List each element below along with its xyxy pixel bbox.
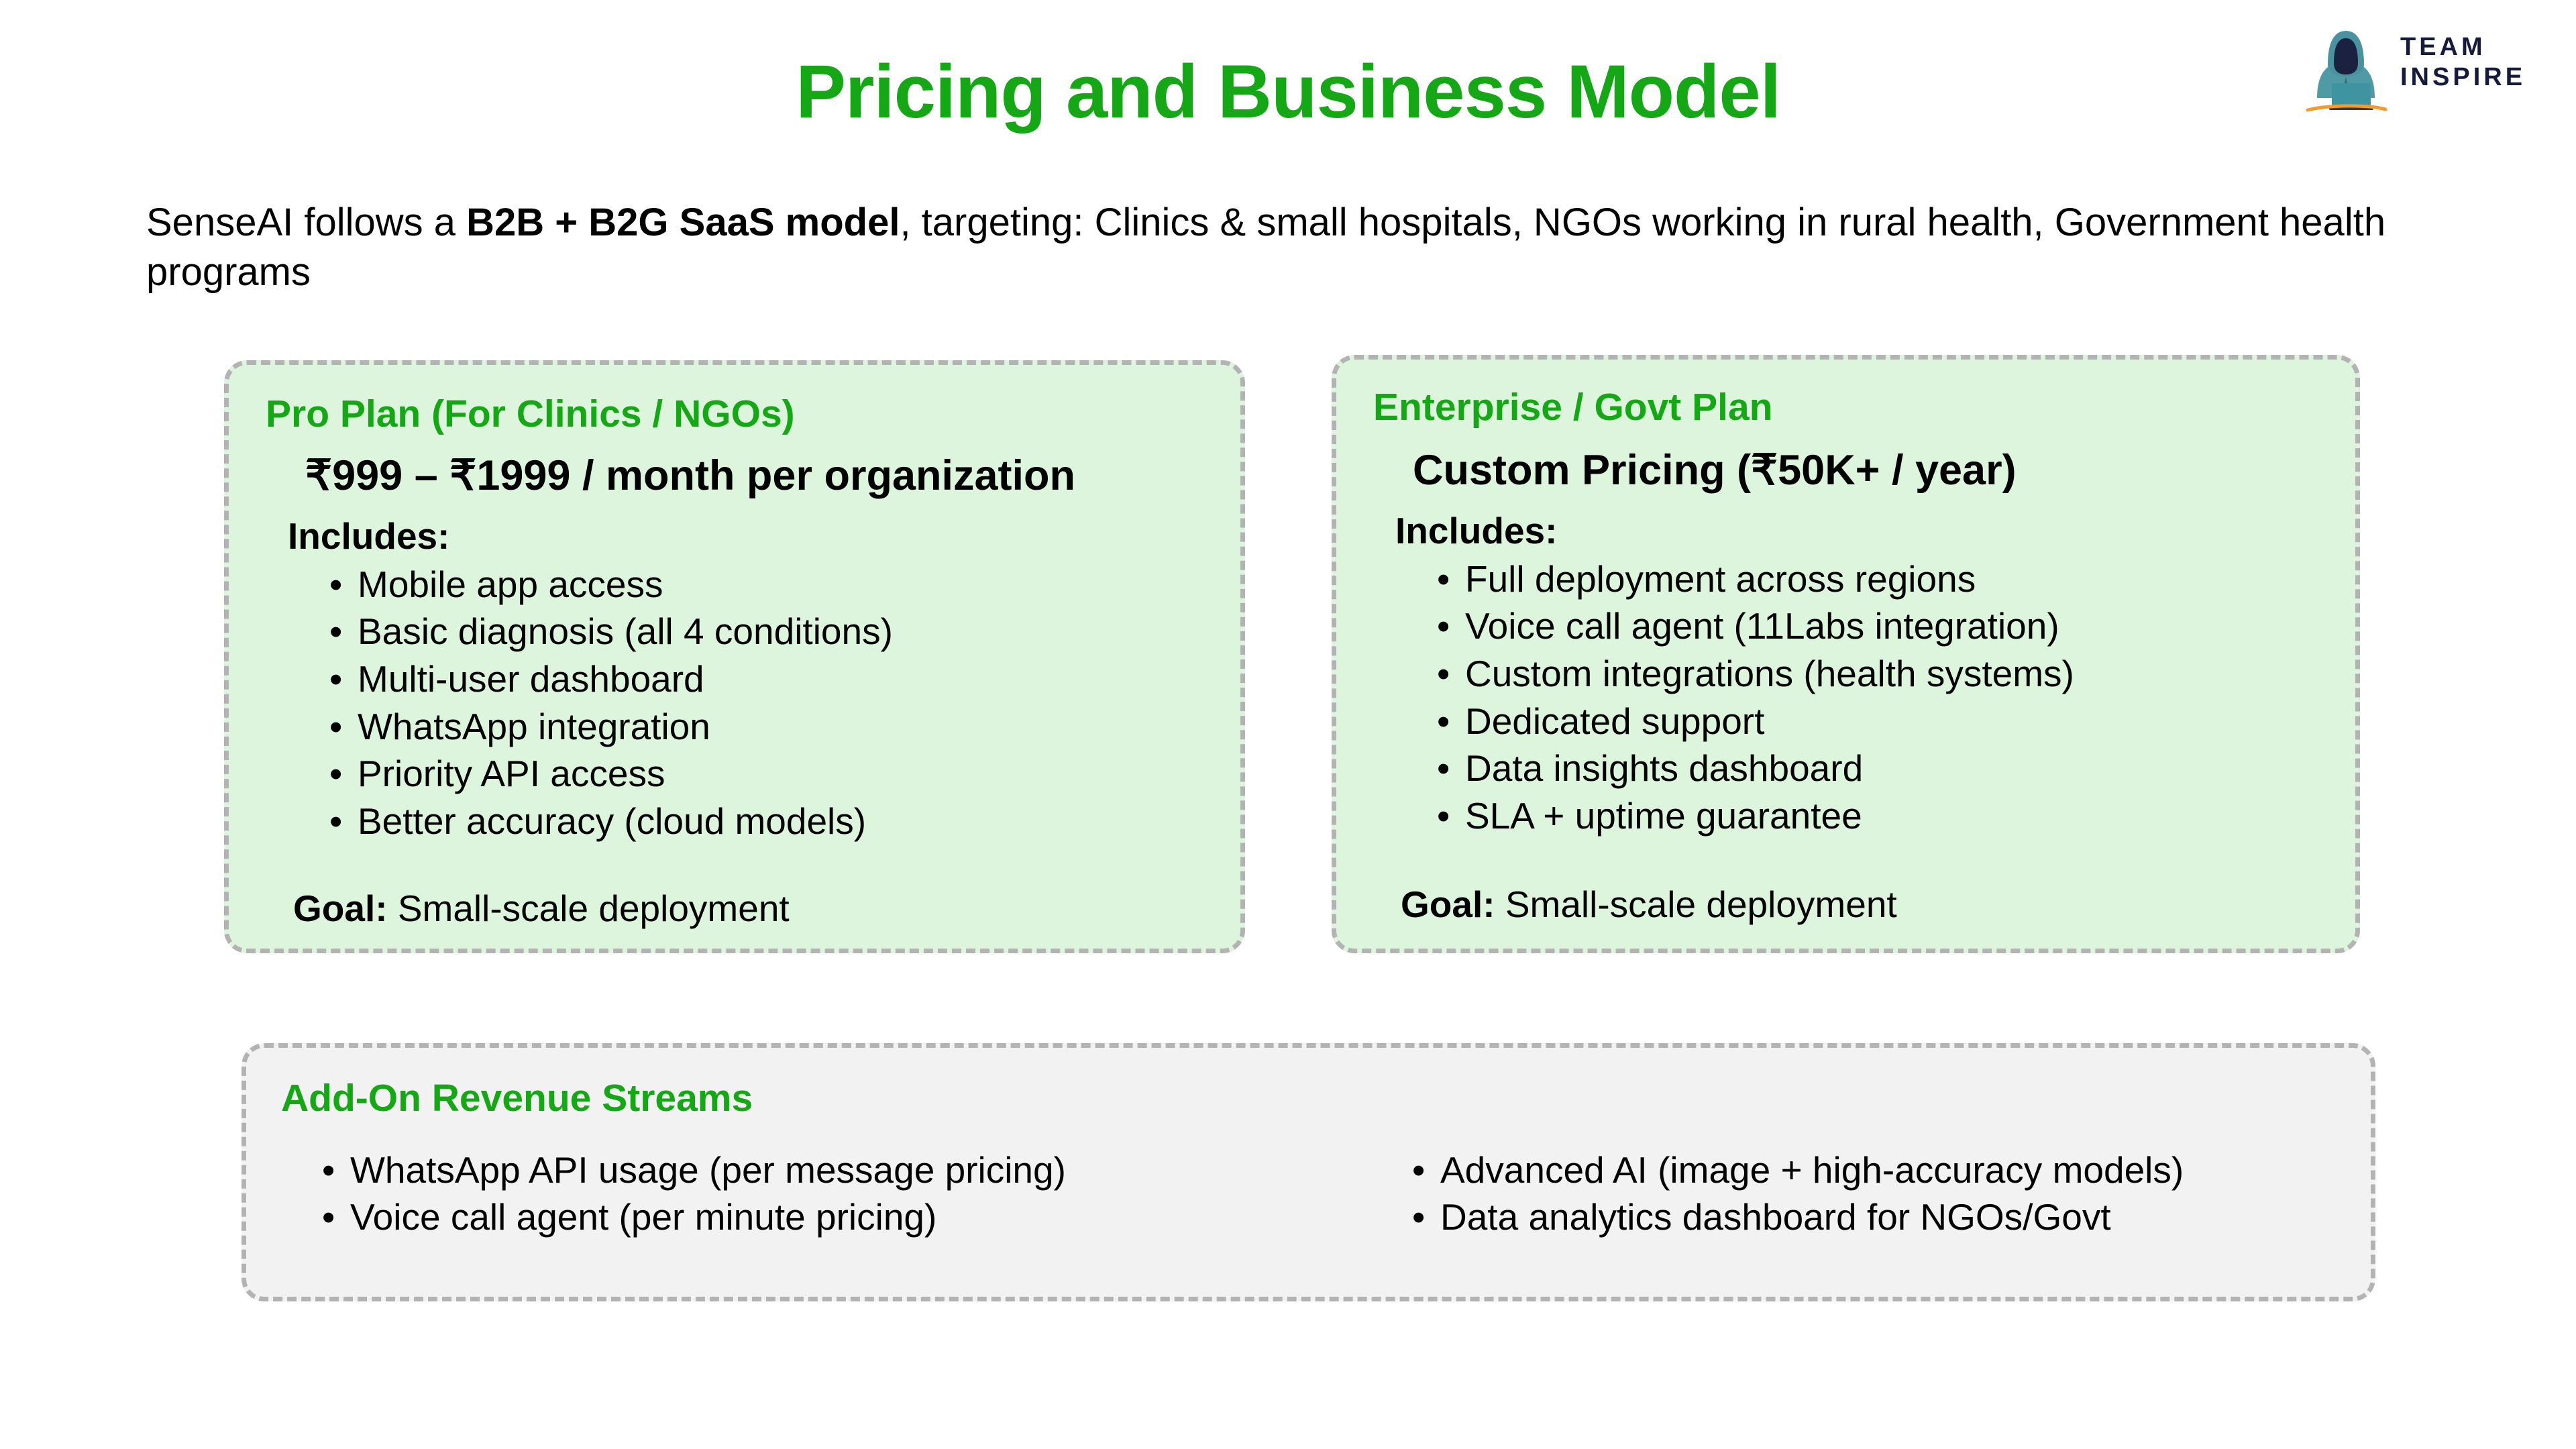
list-item: Data analytics dashboard for NGOs/Govt bbox=[1440, 1193, 2371, 1241]
list-item: WhatsApp integration bbox=[358, 703, 1240, 751]
subtitle-lead: SenseAI follows a bbox=[146, 201, 466, 244]
list-item: Multi-user dashboard bbox=[358, 655, 1240, 703]
addons-columns: WhatsApp API usage (per message pricing)… bbox=[246, 1120, 2371, 1241]
list-item: Advanced AI (image + high-accuracy model… bbox=[1440, 1146, 2371, 1194]
list-item: Voice call agent (per minute pricing) bbox=[350, 1193, 1353, 1241]
addons-column-right: Advanced AI (image + high-accuracy model… bbox=[1353, 1146, 2371, 1241]
list-item: SLA + uptime guarantee bbox=[1465, 792, 2355, 840]
plan-card-enterprise-feature-list: Full deployment across regions Voice cal… bbox=[1336, 555, 2355, 840]
plan-card-enterprise-heading: Enterprise / Govt Plan bbox=[1336, 360, 2355, 429]
list-item: Custom integrations (health systems) bbox=[1465, 650, 2355, 698]
plan-card-pro-heading: Pro Plan (For Clinics / NGOs) bbox=[229, 365, 1240, 435]
list-item: Dedicated support bbox=[1465, 698, 2355, 745]
plan-card-enterprise-price: Custom Pricing (₹50K+ / year) bbox=[1336, 429, 2355, 494]
list-item: Priority API access bbox=[358, 750, 1240, 798]
plan-card-enterprise[interactable]: Enterprise / Govt Plan Custom Pricing (₹… bbox=[1332, 355, 2360, 953]
list-item: Voice call agent (11Labs integration) bbox=[1465, 602, 2355, 650]
plan-card-pro-includes-label: Includes: bbox=[229, 500, 1240, 557]
subtitle-paragraph: SenseAI follows a B2B + B2G SaaS model, … bbox=[146, 198, 2494, 297]
plan-card-enterprise-includes-label: Includes: bbox=[1336, 494, 2355, 551]
plan-card-pro-goal-label: Goal: bbox=[293, 888, 388, 929]
addons-left-list: WhatsApp API usage (per message pricing)… bbox=[350, 1146, 1353, 1241]
addons-card[interactable]: Add-On Revenue Streams WhatsApp API usag… bbox=[241, 1043, 2375, 1301]
plan-card-pro[interactable]: Pro Plan (For Clinics / NGOs) ₹999 – ₹19… bbox=[224, 360, 1245, 953]
list-item: Basic diagnosis (all 4 conditions) bbox=[358, 608, 1240, 655]
plan-card-pro-price: ₹999 – ₹1999 / month per organization bbox=[229, 435, 1240, 500]
addons-heading: Add-On Revenue Streams bbox=[246, 1048, 2371, 1120]
subtitle-bold-term: B2B + B2G SaaS model bbox=[466, 201, 900, 244]
plan-card-pro-feature-list: Mobile app access Basic diagnosis (all 4… bbox=[229, 561, 1240, 845]
plan-card-enterprise-goal-label: Goal: bbox=[1401, 883, 1495, 925]
plan-card-pro-goal: Goal: Small-scale deployment bbox=[229, 845, 1240, 929]
addons-column-left: WhatsApp API usage (per message pricing)… bbox=[246, 1146, 1353, 1241]
list-item: Mobile app access bbox=[358, 561, 1240, 608]
list-item: Data insights dashboard bbox=[1465, 745, 2355, 792]
list-item: WhatsApp API usage (per message pricing) bbox=[350, 1146, 1353, 1194]
plan-card-enterprise-goal: Goal: Small-scale deployment bbox=[1336, 840, 2355, 925]
page-title: Pricing and Business Model bbox=[0, 52, 2576, 131]
list-item: Better accuracy (cloud models) bbox=[358, 798, 1240, 845]
list-item: Full deployment across regions bbox=[1465, 555, 2355, 603]
addons-right-list: Advanced AI (image + high-accuracy model… bbox=[1440, 1146, 2371, 1241]
plan-card-pro-goal-text: Small-scale deployment bbox=[388, 888, 790, 929]
plan-card-enterprise-goal-text: Small-scale deployment bbox=[1495, 883, 1897, 925]
